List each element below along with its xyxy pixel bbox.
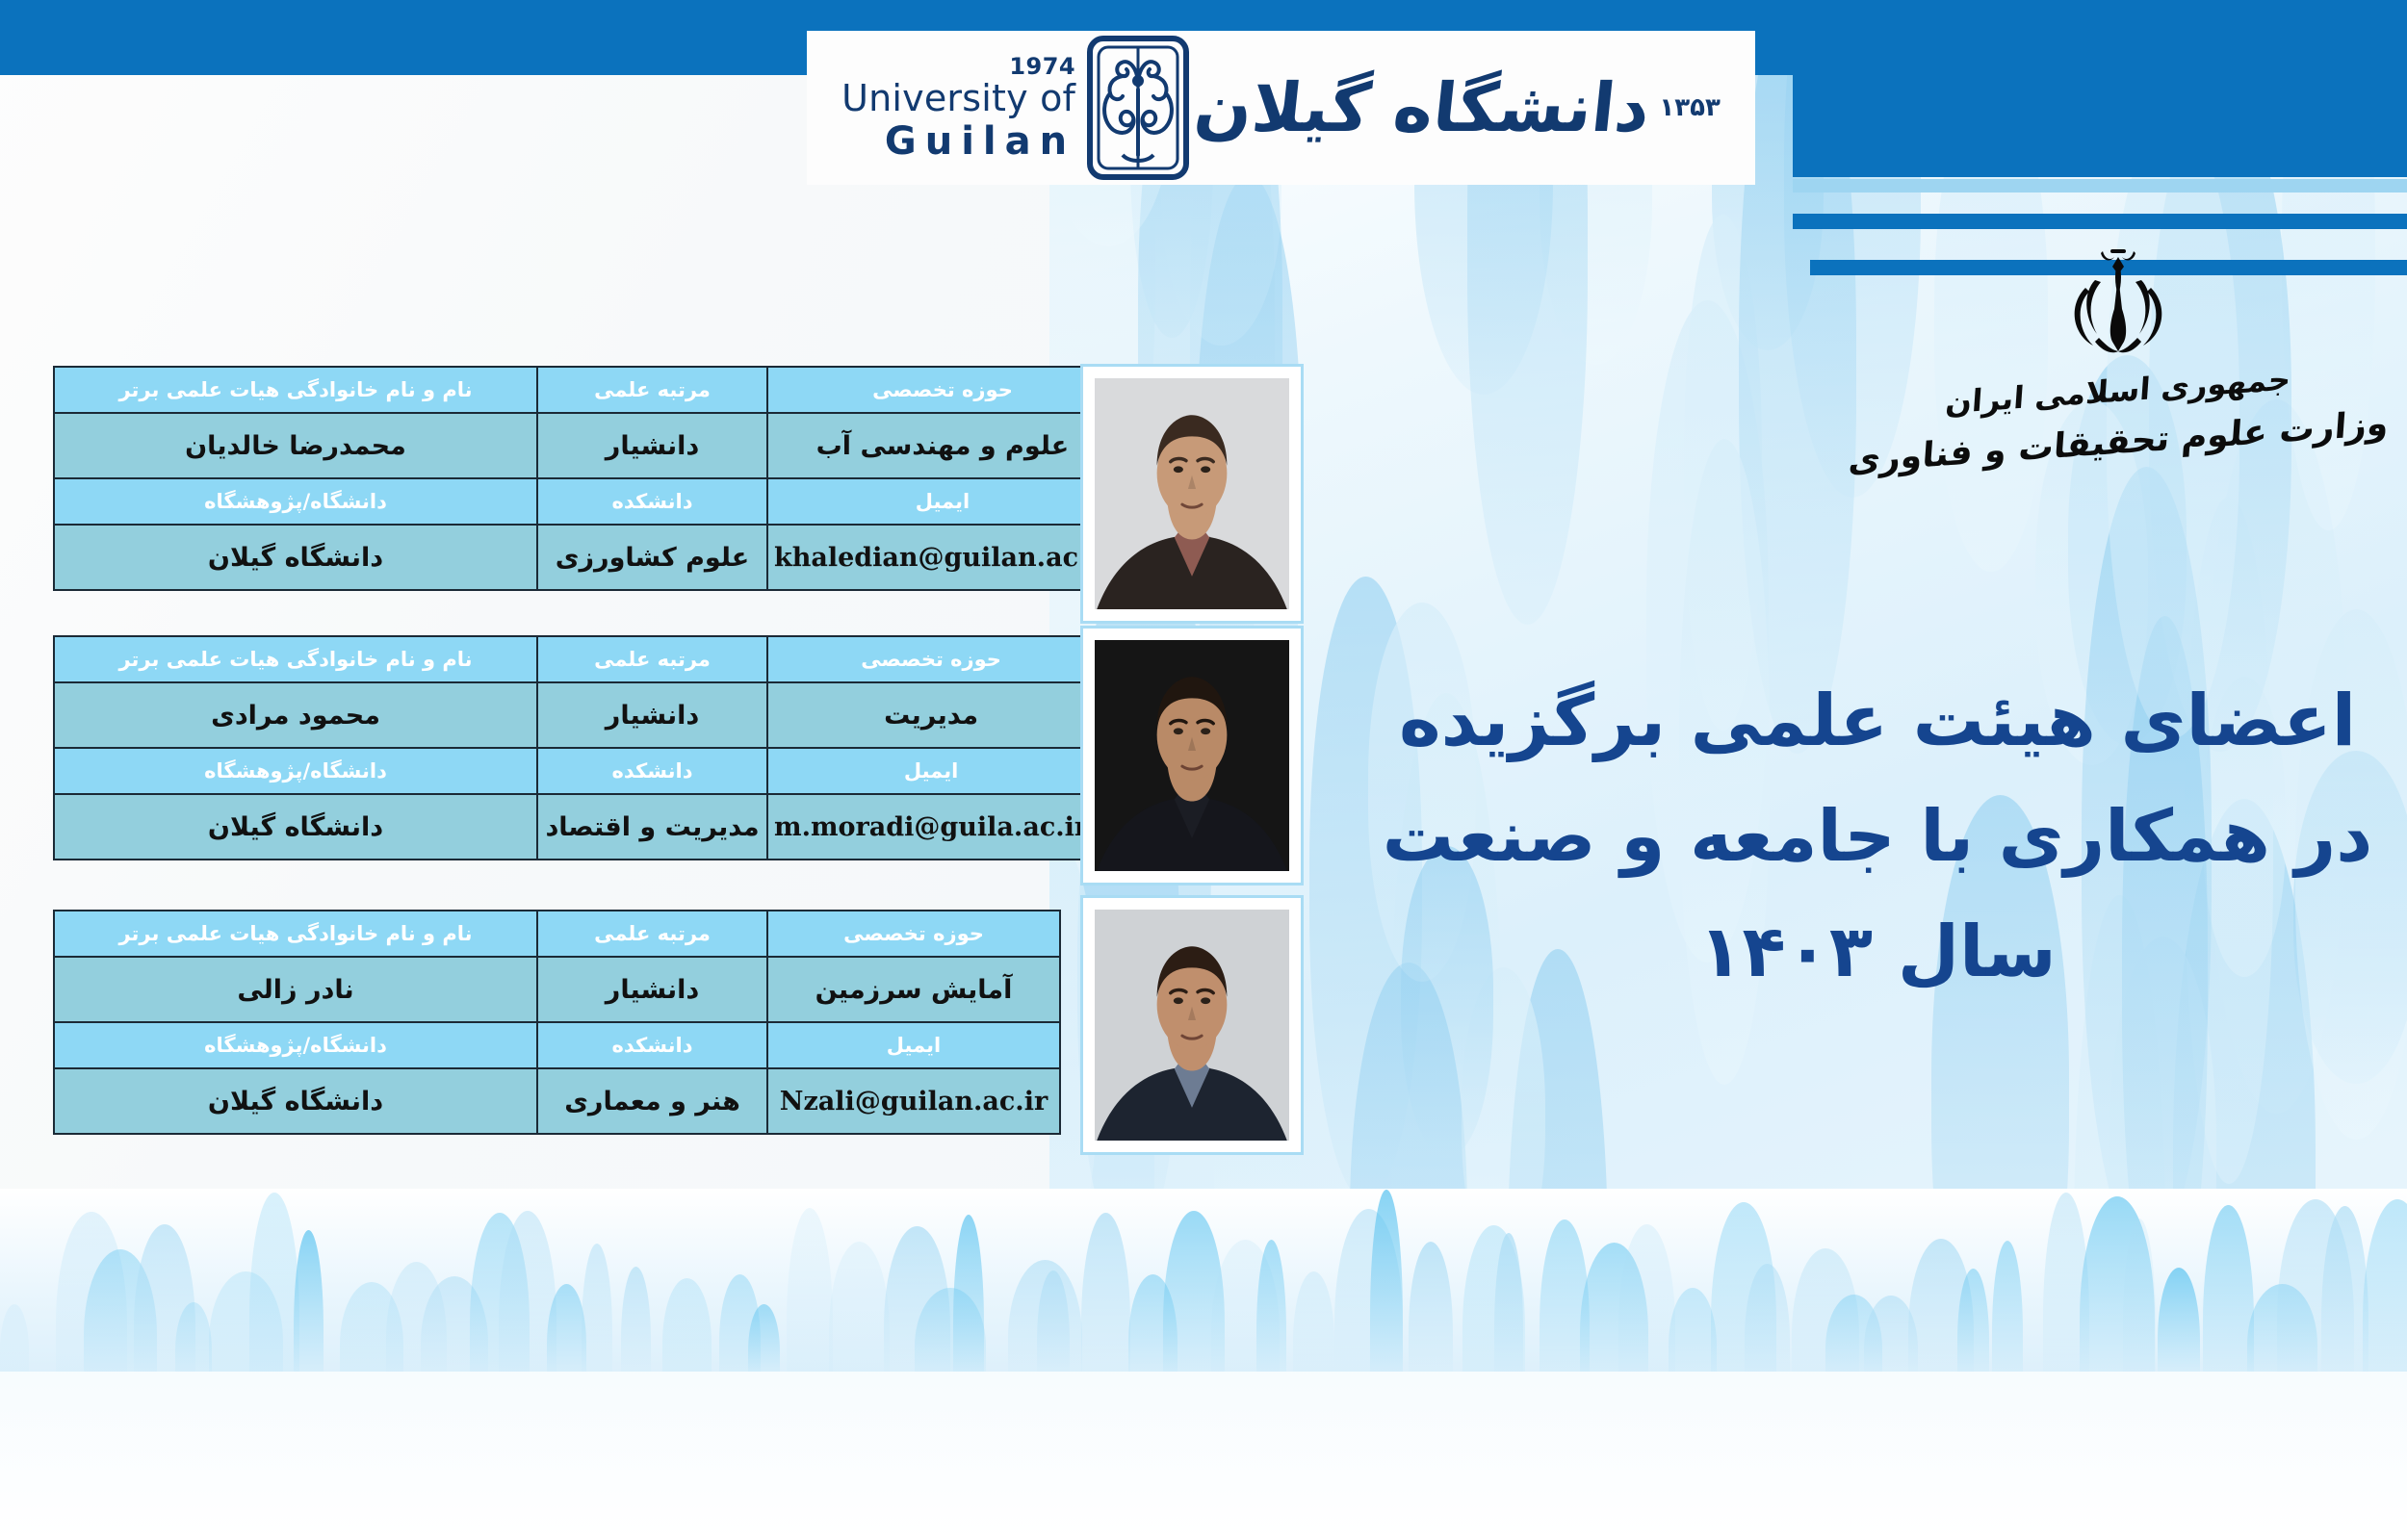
col-header-rank: مرتبه علمی (537, 911, 767, 957)
cell-name: محمود مرادی (54, 682, 537, 748)
table-row: khaledian@guilan.ac.ir علوم کشاورزی دانش… (54, 525, 1118, 590)
col-header-faculty: دانشکده (537, 478, 767, 525)
decor-bar-3 (1793, 214, 2407, 229)
ministry-line2: وزارت علوم تحقیقات و فناوری (1847, 404, 2390, 481)
member-table-3: حوزه تخصصی مرتبه علمی نام و نام خانوادگی… (53, 910, 1061, 1135)
cell-rank: دانشیار (537, 682, 767, 748)
member-table-2: حوزه تخصصی مرتبه علمی نام و نام خانوادگی… (53, 635, 1096, 860)
cell-faculty: علوم کشاورزی (537, 525, 767, 590)
cell-rank: دانشیار (537, 957, 767, 1022)
col-header-email: ایمیل (767, 478, 1118, 525)
col-header-faculty: دانشکده (537, 1022, 767, 1068)
cell-name: محمدرضا خالدیان (54, 413, 537, 478)
col-header-name: نام و نام خانوادگی هیات علمی برتر (54, 911, 537, 957)
cell-faculty: مدیریت و اقتصاد (537, 794, 767, 860)
table-row-group: حوزه تخصصی مرتبه علمی نام و نام خانوادگی… (53, 366, 1119, 591)
headline-line-2: در همکاری با جامعه و صنعت (1348, 780, 2407, 895)
col-header-university: دانشگاه/پژوهشگاه (54, 748, 537, 794)
portrait-mohammadreza-khaledian (1095, 378, 1289, 609)
table-row: علوم و مهندسی آب دانشیار محمدرضا خالدیان (54, 413, 1118, 478)
university-name-english: 1974 University of Guilan (841, 55, 1075, 161)
cell-area: آمایش سرزمین (767, 957, 1060, 1022)
portrait-mahmoud-moradi (1095, 640, 1289, 871)
cell-area: علوم و مهندسی آب (767, 413, 1118, 478)
member-table-1: حوزه تخصصی مرتبه علمی نام و نام خانوادگی… (53, 366, 1119, 591)
col-header-area: حوزه تخصصی (767, 911, 1060, 957)
guilan-butterfly-crest-icon (1087, 36, 1189, 180)
university-name-persian: ۱۳۵۳ دانشگاه گیلان (1195, 74, 1721, 141)
table-row-group: حوزه تخصصی مرتبه علمی نام و نام خانوادگی… (53, 910, 1061, 1135)
cell-area: مدیریت (767, 682, 1095, 748)
ministry-line1: جمهوری اسلامی ایران (1944, 361, 2291, 422)
col-header-email: ایمیل (767, 1022, 1060, 1068)
col-header-rank: مرتبه علمی (537, 636, 767, 682)
table-row: حوزه تخصصی مرتبه علمی نام و نام خانوادگی… (54, 911, 1060, 957)
table-row-group: حوزه تخصصی مرتبه علمی نام و نام خانوادگی… (53, 635, 1096, 860)
cell-faculty: هنر و معماری (537, 1068, 767, 1134)
university-logo: 1974 University of Guilan ۱۳۵۳ (807, 31, 1755, 185)
table-row: Nzali@guilan.ac.ir هنر و معماری دانشگاه … (54, 1068, 1060, 1134)
decor-bar-2 (1793, 179, 2407, 192)
decor-bar-1 (1793, 75, 2407, 177)
member-photo-frame-2 (1080, 626, 1304, 885)
member-photo-frame-1 (1080, 364, 1304, 624)
cell-rank: دانشیار (537, 413, 767, 478)
cell-university: دانشگاه گیلان (54, 1068, 537, 1134)
col-header-university: دانشگاه/پژوهشگاه (54, 478, 537, 525)
cell-university: دانشگاه گیلان (54, 525, 537, 590)
portrait-nader-zali (1095, 910, 1289, 1141)
poster-canvas: 1974 University of Guilan ۱۳۵۳ (0, 0, 2407, 1540)
cell-email[interactable]: Nzali@guilan.ac.ir (767, 1068, 1060, 1134)
col-header-faculty: دانشکده (537, 748, 767, 794)
cell-name: نادر زالی (54, 957, 537, 1022)
col-header-area: حوزه تخصصی (767, 636, 1095, 682)
col-header-email: ایمیل (767, 748, 1095, 794)
ministry-block: جمهوری اسلامی ایران وزارت علوم تحقیقات و… (1868, 245, 2368, 505)
university-line2: Guilan (841, 122, 1075, 161)
table-row: ایمیل دانشکده دانشگاه/پژوهشگاه (54, 478, 1118, 525)
headline-line-1: اعضای هیئت علمی برگزیده (1348, 664, 2407, 780)
table-row: حوزه تخصصی مرتبه علمی نام و نام خانوادگی… (54, 367, 1118, 413)
table-row: آمایش سرزمین دانشیار نادر زالی (54, 957, 1060, 1022)
table-row: m.moradi@guila.ac.ir مدیریت و اقتصاد دان… (54, 794, 1095, 860)
member-photo-frame-3 (1080, 895, 1304, 1155)
iran-national-emblem-icon (2057, 245, 2180, 359)
university-name-fa-text: دانشگاه گیلان (1191, 74, 1653, 141)
col-header-name: نام و نام خانوادگی هیات علمی برتر (54, 367, 537, 413)
university-line1: University of (841, 80, 1075, 116)
cell-email[interactable]: khaledian@guilan.ac.ir (767, 525, 1118, 590)
table-row: حوزه تخصصی مرتبه علمی نام و نام خانوادگی… (54, 636, 1095, 682)
founding-year-persian: ۱۳۵۳ (1659, 93, 1720, 122)
col-header-area: حوزه تخصصی (767, 367, 1118, 413)
cell-email[interactable]: m.moradi@guila.ac.ir (767, 794, 1095, 860)
cell-university: دانشگاه گیلان (54, 794, 537, 860)
col-header-university: دانشگاه/پژوهشگاه (54, 1022, 537, 1068)
headline-line-3: سال ۱۴۰۳ (1348, 895, 2407, 1011)
bottom-decorative-band (0, 1189, 2407, 1372)
founding-year-gregorian: 1974 (841, 55, 1075, 78)
page-title: اعضای هیئت علمی برگزیده در همکاری با جام… (1348, 664, 2407, 1011)
col-header-rank: مرتبه علمی (537, 367, 767, 413)
table-row: ایمیل دانشکده دانشگاه/پژوهشگاه (54, 748, 1095, 794)
col-header-name: نام و نام خانوادگی هیات علمی برتر (54, 636, 537, 682)
table-row: ایمیل دانشکده دانشگاه/پژوهشگاه (54, 1022, 1060, 1068)
table-row: مدیریت دانشیار محمود مرادی (54, 682, 1095, 748)
